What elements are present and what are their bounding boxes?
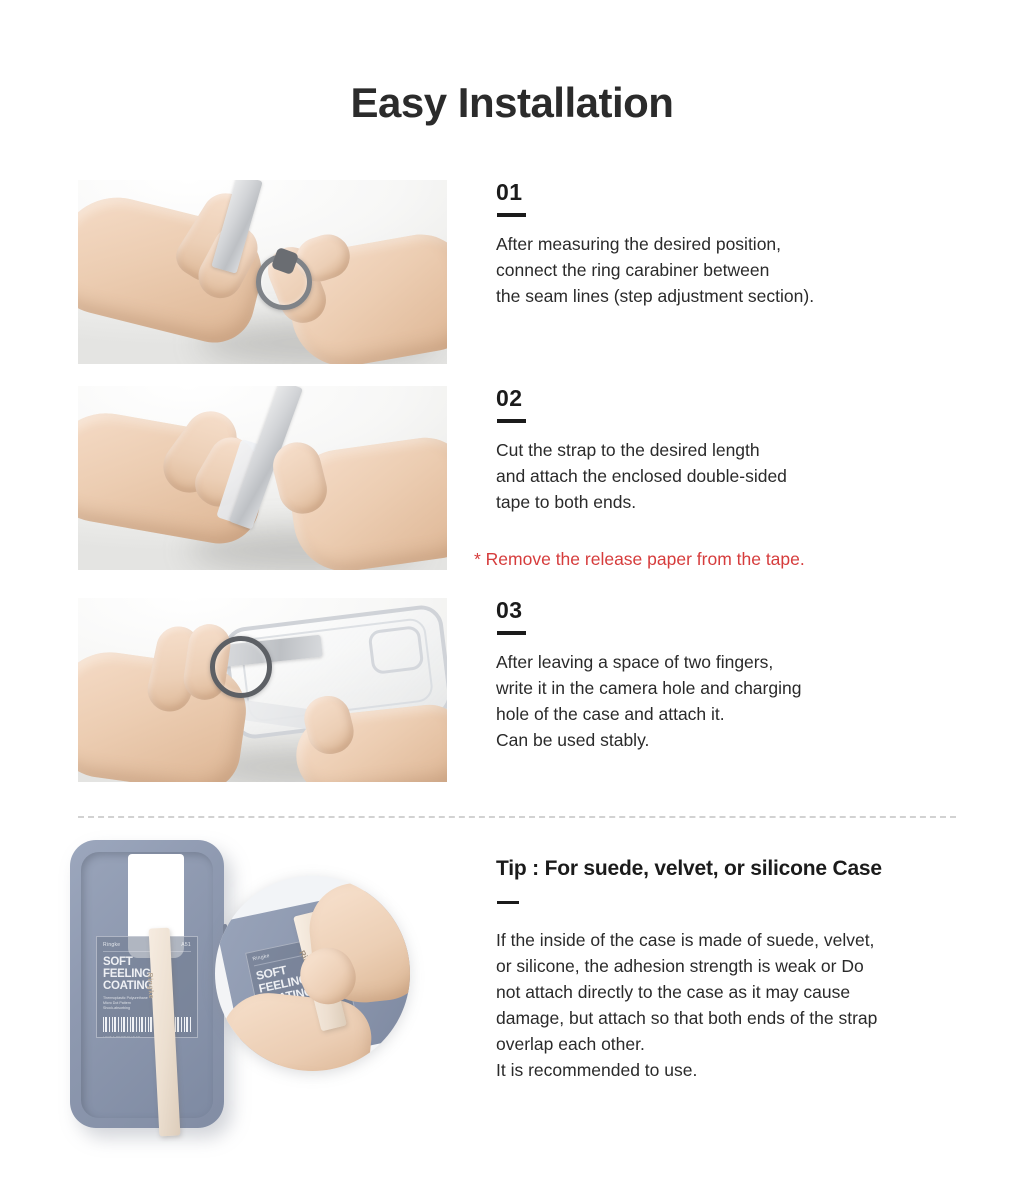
label-top-row: Ringke A51 (103, 942, 191, 952)
step-2-photo (78, 386, 447, 570)
inset-label-brand: Ringke (252, 953, 270, 962)
step-3-text: 03 After leaving a space of two fingers,… (496, 598, 966, 753)
label-brand: Ringke (103, 942, 120, 948)
step-1-body: After measuring the desired position, co… (496, 231, 966, 309)
step-2-text: 02 Cut the strap to the desired length a… (496, 386, 966, 515)
step-1-text: 01 After measuring the desired position,… (496, 180, 966, 309)
label-model: A51 (181, 942, 191, 948)
step-1-photo (78, 180, 447, 364)
silicone-phone-case: Ringke A51 SOFT FEELING COATING Thermopl… (70, 840, 224, 1128)
step-3-photo (78, 598, 447, 782)
step-2-number: 02 (496, 386, 966, 410)
tip-body: If the inside of the case is made of sue… (496, 927, 976, 1083)
label-footer: UNIT & SECTION BAR (103, 1036, 191, 1038)
tip-text: Tip : For suede, velvet, or silicone Cas… (496, 857, 976, 1083)
camera-cutout (368, 625, 425, 675)
ring-carabiner-icon (210, 636, 272, 698)
step-1-rule (497, 213, 526, 217)
tip-rule (497, 901, 519, 904)
step-2-body: Cut the strap to the desired length and … (496, 437, 966, 515)
step-2-note: * Remove the release paper from the tape… (474, 546, 805, 572)
step-3-rule (497, 631, 526, 635)
tip-title: Tip : For suede, velvet, or silicone Cas… (496, 857, 976, 881)
step-3-number: 03 (496, 598, 966, 622)
strap-brand-text: Ringke (146, 973, 154, 1000)
tip-photo: Ringke A51 SOFT FEELING COATING Thermopl… (60, 836, 460, 1136)
closeup-inset: Ringke A51 SOFT FEELING COATING Ringke (215, 876, 410, 1071)
step-2-rule (497, 419, 526, 423)
step-3-body: After leaving a space of two fingers, wr… (496, 649, 966, 753)
step-1-number: 01 (496, 180, 966, 204)
page-title: Easy Installation (0, 79, 1024, 127)
barcode-icon (103, 1017, 191, 1032)
section-divider (78, 816, 956, 818)
